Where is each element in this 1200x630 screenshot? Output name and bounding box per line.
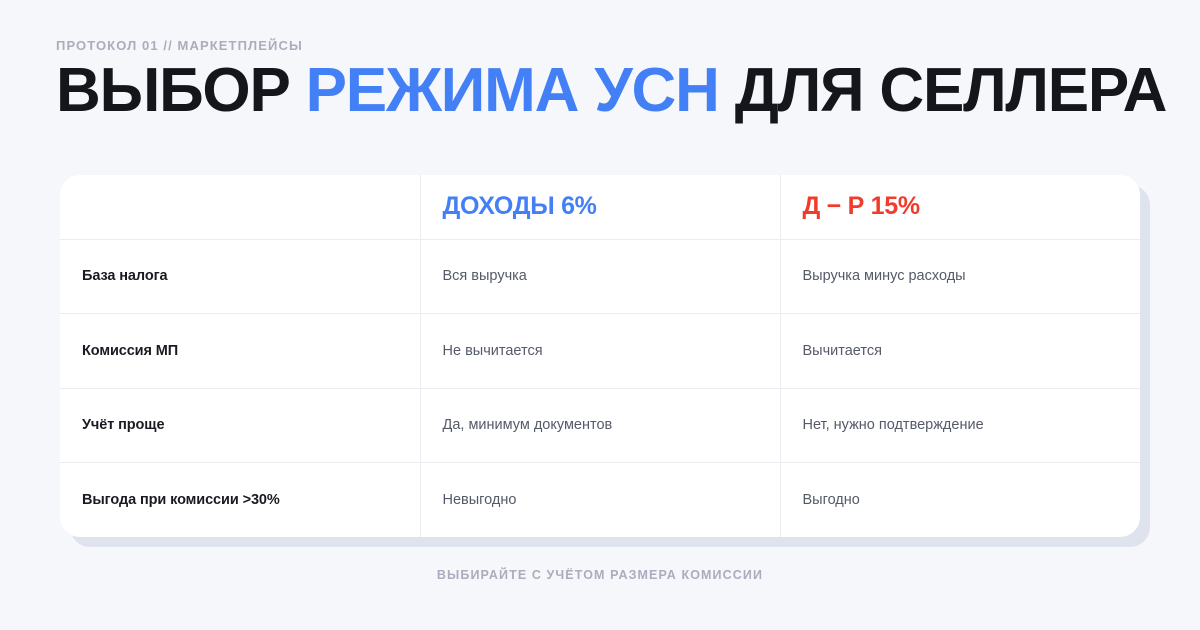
page-title: ВЫБОР РЕЖИМА УСН ДЛЯ СЕЛЛЕРА bbox=[56, 58, 1166, 124]
row-value-a: Невыгодно bbox=[443, 492, 517, 508]
row-value-cell-a: Да, минимум документов bbox=[420, 388, 780, 463]
column-header-income-minus-expense-15-label: Д − Р 15% bbox=[803, 192, 920, 220]
row-value-a: Вся выручка bbox=[443, 268, 527, 284]
eyebrow-label: ПРОТОКОЛ 01 // МАРКЕТПЛЕЙСЫ bbox=[56, 38, 303, 53]
row-label-cell: Учёт проще bbox=[60, 388, 420, 463]
row-value-cell-a: Не вычитается bbox=[420, 314, 780, 389]
row-label-cell: Комиссия МП bbox=[60, 314, 420, 389]
row-label: Учёт проще bbox=[82, 417, 164, 433]
row-value-cell-a: Невыгодно bbox=[420, 463, 780, 538]
table-row: База налога Вся выручка Выручка минус ра… bbox=[60, 239, 1140, 314]
table-row: Учёт проще Да, минимум документов Нет, н… bbox=[60, 388, 1140, 463]
table-body: База налога Вся выручка Выручка минус ра… bbox=[60, 239, 1140, 537]
row-value-cell-a: Вся выручка bbox=[420, 239, 780, 314]
row-value-a: Да, минимум документов bbox=[443, 417, 613, 433]
comparison-card-wrapper: ДОХОДЫ 6% Д − Р 15% База налога Вся выру bbox=[60, 175, 1140, 537]
table-row: Комиссия МП Не вычитается Вычитается bbox=[60, 314, 1140, 389]
column-header-income-6: ДОХОДЫ 6% bbox=[420, 175, 780, 239]
table-header: ДОХОДЫ 6% Д − Р 15% bbox=[60, 175, 1140, 239]
table-row: Выгода при комиссии >30% Невыгодно Выгод… bbox=[60, 463, 1140, 538]
row-value-cell-b: Выручка минус расходы bbox=[780, 239, 1140, 314]
footer-note: ВЫБИРАЙТЕ С УЧЁТОМ РАЗМЕРА КОМИССИИ bbox=[0, 568, 1200, 582]
row-value-a: Не вычитается bbox=[443, 343, 543, 359]
title-part-1: ВЫБОР bbox=[56, 56, 306, 125]
row-value-cell-b: Нет, нужно подтверждение bbox=[780, 388, 1140, 463]
column-header-income-minus-expense-15: Д − Р 15% bbox=[780, 175, 1140, 239]
column-header-income-6-label: ДОХОДЫ 6% bbox=[443, 192, 597, 220]
table-header-row: ДОХОДЫ 6% Д − Р 15% bbox=[60, 175, 1140, 239]
row-label: База налога bbox=[82, 268, 167, 284]
row-value-b: Нет, нужно подтверждение bbox=[803, 417, 984, 433]
row-label: Выгода при комиссии >30% bbox=[82, 492, 280, 508]
row-value-b: Вычитается bbox=[803, 343, 882, 359]
row-label-cell: База налога bbox=[60, 239, 420, 314]
row-value-cell-b: Вычитается bbox=[780, 314, 1140, 389]
row-value-b: Выручка минус расходы bbox=[803, 268, 966, 284]
column-header-empty bbox=[60, 175, 420, 239]
comparison-card: ДОХОДЫ 6% Д − Р 15% База налога Вся выру bbox=[60, 175, 1140, 537]
row-label: Комиссия МП bbox=[82, 343, 178, 359]
row-label-cell: Выгода при комиссии >30% bbox=[60, 463, 420, 538]
infographic-page: ПРОТОКОЛ 01 // МАРКЕТПЛЕЙСЫ ВЫБОР РЕЖИМА… bbox=[0, 0, 1200, 630]
comparison-table: ДОХОДЫ 6% Д − Р 15% База налога Вся выру bbox=[60, 175, 1140, 537]
row-value-b: Выгодно bbox=[803, 492, 860, 508]
row-value-cell-b: Выгодно bbox=[780, 463, 1140, 538]
title-part-2: ДЛЯ СЕЛЛЕРА bbox=[719, 56, 1166, 125]
title-accent: РЕЖИМА УСН bbox=[306, 56, 719, 125]
